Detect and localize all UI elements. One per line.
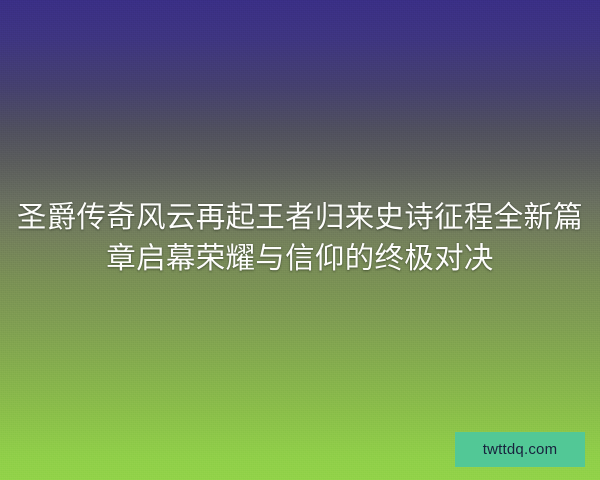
page-title: 圣爵传奇风云再起王者归来史诗征程全新篇章启幕荣耀与信仰的终极对决	[0, 197, 600, 279]
watermark-label: twttdq.com	[483, 441, 558, 458]
poster-canvas: 圣爵传奇风云再起王者归来史诗征程全新篇章启幕荣耀与信仰的终极对决 twttdq.…	[0, 0, 600, 480]
watermark-badge: twttdq.com	[455, 432, 585, 467]
